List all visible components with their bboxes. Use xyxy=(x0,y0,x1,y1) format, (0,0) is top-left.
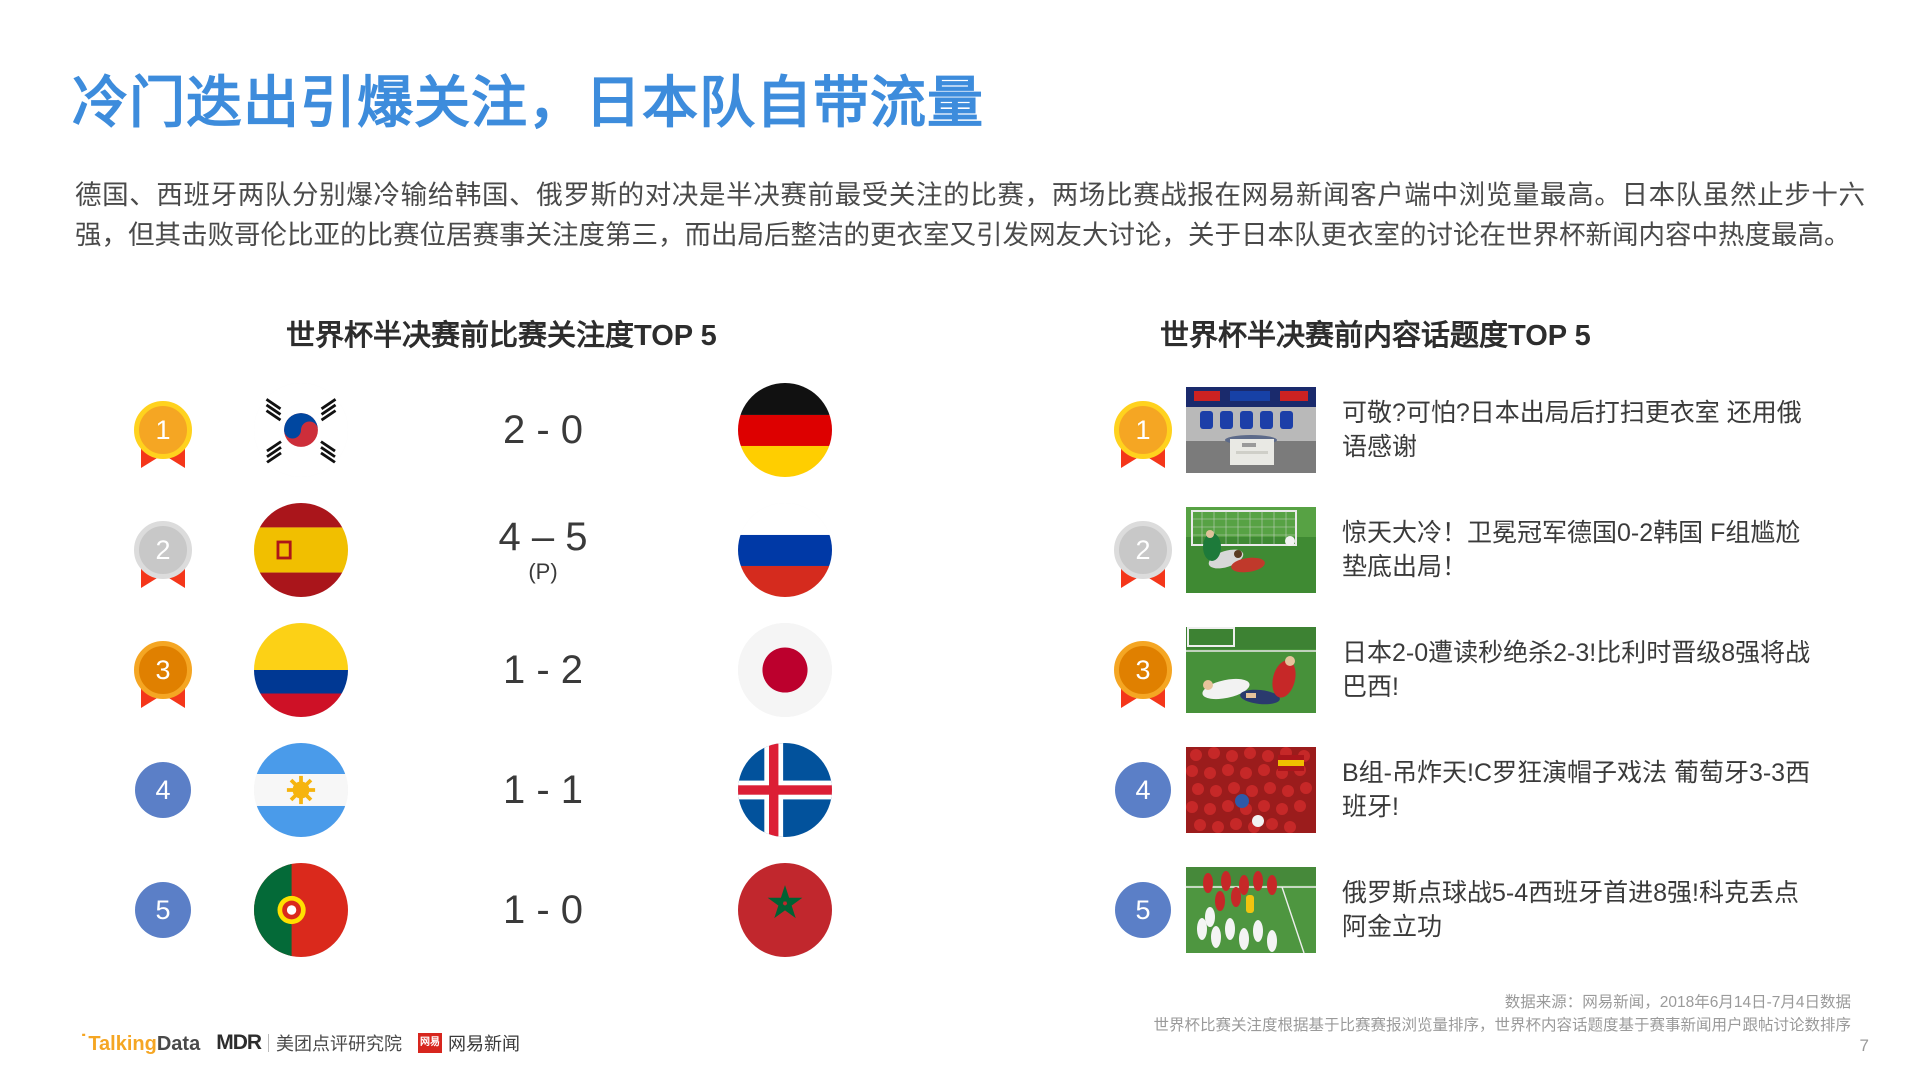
rank-circle: 4 xyxy=(1115,762,1171,818)
netease-label: 网易新闻 xyxy=(448,1030,520,1056)
page-number: 7 xyxy=(1860,1036,1869,1056)
pitch-dive-photo xyxy=(1186,627,1316,713)
medal-icon: 2 xyxy=(134,521,192,579)
logo-bar: ˙ Talking Data MDR 美团点评研究院 网易 网易新闻 xyxy=(80,1030,520,1056)
crowd-photo xyxy=(1186,747,1316,833)
medal-icon: 3 xyxy=(134,641,192,699)
lead-paragraph: 德国、西班牙两队分别爆冷输给韩国、俄罗斯的对决是半决赛前最受关注的比赛，两场比赛… xyxy=(75,175,1865,256)
score-value: 1 - 2 xyxy=(503,648,583,692)
medal-icon: 2 xyxy=(1114,521,1172,579)
goalmouth-photo xyxy=(1186,507,1316,593)
flag-colombia-icon xyxy=(254,623,348,717)
table-row: 3 1 - 2 xyxy=(120,610,880,730)
medal-icon: 1 xyxy=(1114,401,1172,459)
flag-japan-icon xyxy=(738,623,832,717)
rank-badge: 3 xyxy=(1100,616,1186,724)
list-item[interactable]: 2 xyxy=(1100,490,1860,610)
rank-circle: 5 xyxy=(135,882,191,938)
rank-badge: 3 xyxy=(120,616,206,724)
news-headline[interactable]: 日本2-0遭读秒绝杀2-3!比利时晋级8强将战巴西! xyxy=(1342,636,1817,705)
match-score: 1 - 2 xyxy=(348,649,738,691)
rank-badge: 2 xyxy=(120,496,206,604)
news-headline[interactable]: B组-吊炸天!C罗狂演帽子戏法 葡萄牙3-3西班牙! xyxy=(1342,756,1817,825)
flag-russia-icon xyxy=(738,503,832,597)
rank-circle: 4 xyxy=(135,762,191,818)
rank-badge: 1 xyxy=(120,376,206,484)
news-headline[interactable]: 可敬?可怕?日本出局后打扫更衣室 还用俄语感谢 xyxy=(1342,396,1817,465)
logo-divider xyxy=(268,1034,269,1052)
right-section-heading: 世界杯半决赛前内容话题度TOP 5 xyxy=(1160,312,1591,354)
netease-mark-icon: 网易 xyxy=(418,1033,442,1053)
rank-badge: 4 xyxy=(1100,736,1186,844)
flag-portugal-icon xyxy=(254,863,348,957)
flag-morocco-icon xyxy=(738,863,832,957)
score-value: 4 – 5 xyxy=(499,515,588,559)
rank-badge: 5 xyxy=(1100,856,1186,964)
match-score: 2 - 0 xyxy=(348,409,738,451)
talkingdata-logo: ˙ Talking Data xyxy=(80,1030,200,1056)
list-item[interactable]: 1 xyxy=(1100,370,1860,490)
list-item[interactable]: 4 xyxy=(1100,730,1860,850)
news-headline[interactable]: 惊天大冷！卫冕冠军德国0-2韩国 F组尴尬垫底出局！ xyxy=(1342,516,1817,585)
score-value: 1 - 1 xyxy=(503,768,583,812)
mdr-wordmark: MDR xyxy=(216,1031,261,1055)
match-score: 1 - 0 xyxy=(348,889,738,931)
flag-iceland-icon xyxy=(738,743,832,837)
rank-badge: 2 xyxy=(1100,496,1186,604)
table-row: 4 1 - 1 xyxy=(120,730,880,850)
news-list: 1 xyxy=(1100,370,1860,970)
score-value: 2 - 0 xyxy=(503,408,583,452)
source-note-line2: 世界杯比赛关注度根据基于比赛赛报浏览量排序，世界杯内容话题度基于赛事新闻用户跟帖… xyxy=(1153,1013,1851,1035)
lockerroom-photo xyxy=(1186,387,1316,473)
slide: 冷门迭出引爆关注，日本队自带流量 德国、西班牙两队分别爆冷输给韩国、俄罗斯的对决… xyxy=(0,0,1921,1080)
penalty-note: (P) xyxy=(348,560,738,583)
table-row: 5 1 - 0 xyxy=(120,850,880,970)
medal-icon: 3 xyxy=(1114,641,1172,699)
flag-germany-icon xyxy=(738,383,832,477)
table-row: 2 4 – 5 (P) xyxy=(120,490,880,610)
table-row: 1 xyxy=(120,370,880,490)
netease-news-logo: 网易 网易新闻 xyxy=(418,1030,520,1056)
news-headline[interactable]: 俄罗斯点球战5-4西班牙首进8强!科克丢点阿金立功 xyxy=(1342,876,1817,945)
flag-argentina-icon xyxy=(254,743,348,837)
list-item[interactable]: 5 xyxy=(1100,850,1860,970)
source-note-line1: 数据来源：网易新闻，2018年6月14日-7月4日数据 xyxy=(1505,990,1851,1012)
meituan-research-logo: MDR 美团点评研究院 xyxy=(216,1030,402,1056)
page-title: 冷门迭出引爆关注，日本队自带流量 xyxy=(72,58,984,139)
talkingdata-logo-part2: Data xyxy=(157,1033,200,1056)
talkingdata-dot-icon: ˙ xyxy=(80,1030,87,1056)
flag-spain-icon xyxy=(254,503,348,597)
match-list: 1 xyxy=(120,370,880,970)
list-item[interactable]: 3 日本2-0遭读秒绝杀2-3!比利时晋级 xyxy=(1100,610,1860,730)
score-value: 1 - 0 xyxy=(503,888,583,932)
match-score: 4 – 5 (P) xyxy=(348,516,738,583)
left-section-heading: 世界杯半决赛前比赛关注度TOP 5 xyxy=(286,312,717,354)
match-score: 1 - 1 xyxy=(348,769,738,811)
rank-circle: 5 xyxy=(1115,882,1171,938)
medal-icon: 1 xyxy=(134,401,192,459)
celebration-photo xyxy=(1186,867,1316,953)
rank-badge: 1 xyxy=(1100,376,1186,484)
rank-badge: 4 xyxy=(120,736,206,844)
flag-korea-icon xyxy=(254,383,348,477)
mdr-label: 美团点评研究院 xyxy=(276,1030,402,1056)
talkingdata-logo-part1: Talking xyxy=(88,1033,157,1056)
rank-badge: 5 xyxy=(120,856,206,964)
